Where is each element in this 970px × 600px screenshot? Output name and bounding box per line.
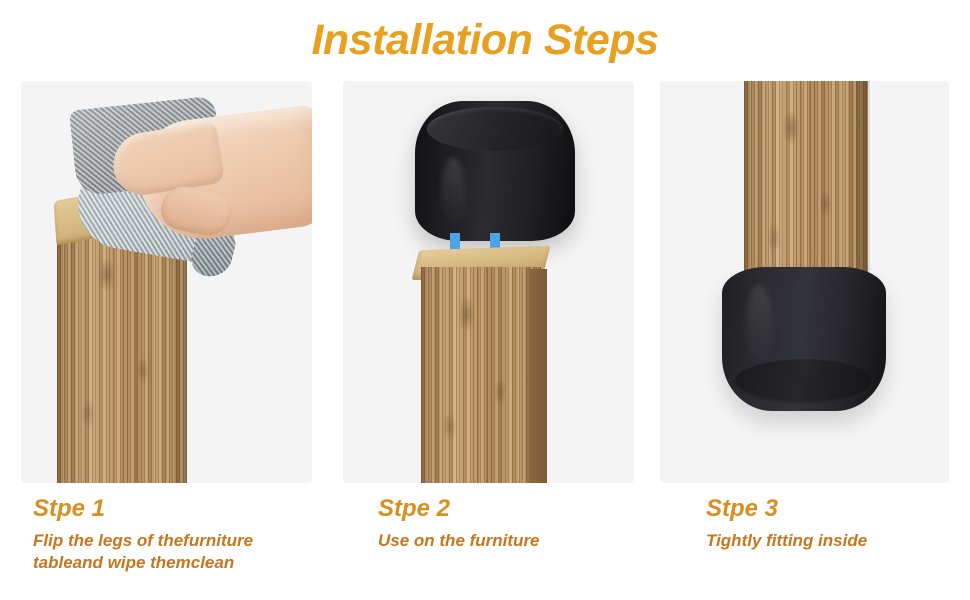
black-silicone-leg-cap	[415, 101, 575, 241]
wooden-furniture-leg	[744, 81, 868, 293]
step-1-caption: Stpe 1 Flip the legs of thefurniture tab…	[33, 494, 313, 574]
step-3-label: Stpe 3	[706, 494, 956, 524]
cap-bottom-face	[734, 359, 874, 405]
step-2-caption: Stpe 2 Use on the furniture	[378, 494, 648, 552]
step-1-description: Flip the legs of thefurniture tableand w…	[33, 530, 313, 574]
step-2-description: Use on the furniture	[378, 530, 648, 552]
cap-highlight	[441, 157, 465, 231]
wooden-furniture-leg	[421, 267, 541, 483]
step-2-label: Stpe 2	[378, 494, 648, 524]
step-1-image-panel	[21, 81, 312, 483]
step-3-description: Tightly fitting inside	[706, 530, 956, 552]
page-title: Installation Steps	[0, 14, 970, 66]
cap-highlight	[746, 285, 772, 367]
wooden-leg-side-face	[856, 81, 870, 293]
step-1-label: Stpe 1	[33, 494, 313, 524]
cap-top-face	[427, 107, 563, 151]
step-2-image-panel	[343, 81, 634, 483]
steps-panel-row	[21, 81, 949, 483]
step-3-caption: Stpe 3 Tightly fitting inside	[706, 494, 956, 552]
wooden-leg-side-face	[529, 269, 547, 483]
step-3-image-panel	[660, 81, 949, 483]
black-silicone-leg-cap	[722, 267, 886, 411]
